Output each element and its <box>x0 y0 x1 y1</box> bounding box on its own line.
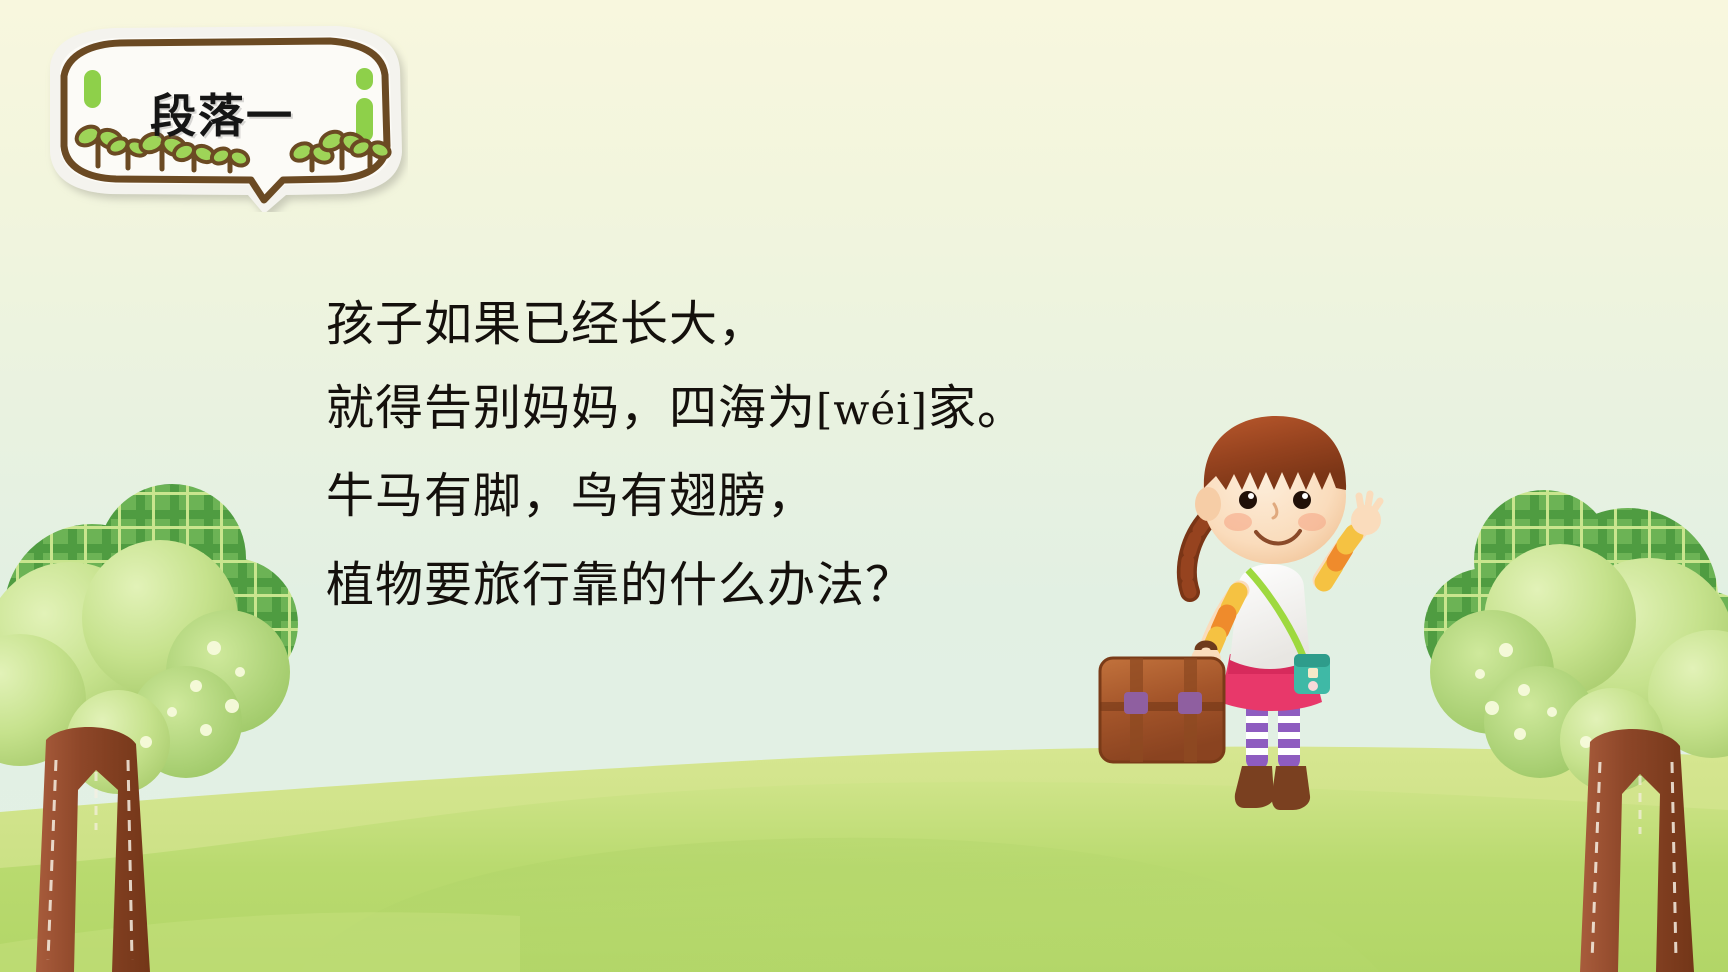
left-tree <box>0 484 298 972</box>
title-badge-label: 段落一 <box>36 80 408 146</box>
head <box>1195 416 1346 564</box>
suitcase <box>1100 644 1224 762</box>
poem-line-2-after: 家。 <box>928 380 1026 436</box>
poem-line-1: 孩子如果已经长大， <box>326 286 1226 364</box>
braid <box>1187 518 1208 592</box>
title-badge: 段落一 <box>36 22 408 212</box>
poem-line-2-before: 就得告别妈妈，四海为 <box>326 380 816 436</box>
eye-right <box>1293 491 1311 509</box>
right-tree <box>1424 490 1728 972</box>
satchel <box>1294 654 1330 694</box>
eye-left <box>1239 491 1257 509</box>
slide-canvas: 段落一 孩子如果已经长大， 就得告别妈妈，四海为[wéi]家。 牛马有脚，鸟有翅… <box>0 0 1728 972</box>
girl-with-suitcase-illustration <box>1078 392 1418 822</box>
pinyin-wei: [wéi] <box>816 385 928 434</box>
